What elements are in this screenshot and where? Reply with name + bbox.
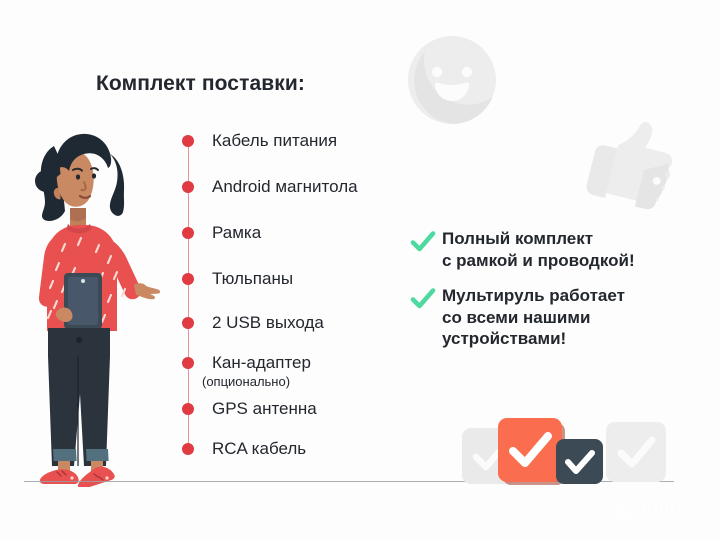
list-item: GPS антенна xyxy=(182,398,317,419)
check-card-coral xyxy=(498,418,562,482)
list-item: Кабель питания xyxy=(182,130,337,151)
thumbs-up-icon xyxy=(572,108,688,220)
smiley-face-icon xyxy=(404,32,500,128)
list-item: Android магнитола xyxy=(182,176,358,197)
benefit-item: Мультируль работает со всеми нашими устр… xyxy=(410,285,710,350)
bullet-dot-icon xyxy=(182,317,194,329)
avito-watermark: Avito xyxy=(614,498,688,522)
illustration-woman-pointing xyxy=(12,112,177,487)
check-card-gray-right xyxy=(606,422,666,482)
list-item: Рамка xyxy=(182,222,261,243)
green-check-icon xyxy=(410,286,436,312)
list-item-label: Кабель питания xyxy=(212,130,337,151)
list-item-label: RCA кабель xyxy=(212,438,306,459)
page-title: Комплект поставки: xyxy=(96,72,305,96)
benefit-item: Полный комплект с рамкой и проводкой! xyxy=(410,228,710,271)
list-item: RCA кабель xyxy=(182,438,306,459)
avito-logo-icon xyxy=(614,499,636,521)
bullet-dot-icon xyxy=(182,181,194,193)
green-check-icon xyxy=(410,229,436,255)
list-item-label: Рамка xyxy=(212,222,261,243)
benefit-label: Мультируль работает со всеми нашими устр… xyxy=(442,285,625,350)
list-item-label: Android магнитола xyxy=(212,176,358,197)
list-item-label: 2 USB выхода xyxy=(212,312,324,333)
list-item-label: Кан-адаптер xyxy=(212,353,311,372)
check-card-navy xyxy=(556,439,603,484)
list-item-label: GPS антенна xyxy=(212,398,317,419)
bullet-dot-icon xyxy=(182,443,194,455)
benefits-list: Полный комплект с рамкой и проводкой! Му… xyxy=(410,228,710,364)
bullet-dot-icon xyxy=(182,357,194,369)
list-item-label: Тюльпаны xyxy=(212,268,293,289)
list-item: Кан-адаптер (опционально) xyxy=(182,352,311,390)
benefit-label: Полный комплект с рамкой и проводкой! xyxy=(442,228,635,271)
check-cards-group xyxy=(462,416,672,486)
promo-banner: Комплект поставки: Кабель питания Androi… xyxy=(0,0,720,540)
list-item: Тюльпаны xyxy=(182,268,293,289)
bullet-dot-icon xyxy=(182,135,194,147)
list-item-sublabel: (опционально) xyxy=(202,373,311,390)
bullet-dot-icon xyxy=(182,227,194,239)
bullet-dot-icon xyxy=(182,273,194,285)
avito-watermark-text: Avito xyxy=(639,498,688,522)
delivery-set-list: Кабель питания Android магнитола Рамка Т… xyxy=(182,130,432,460)
bullet-dot-icon xyxy=(182,403,194,415)
list-item: 2 USB выхода xyxy=(182,312,324,333)
